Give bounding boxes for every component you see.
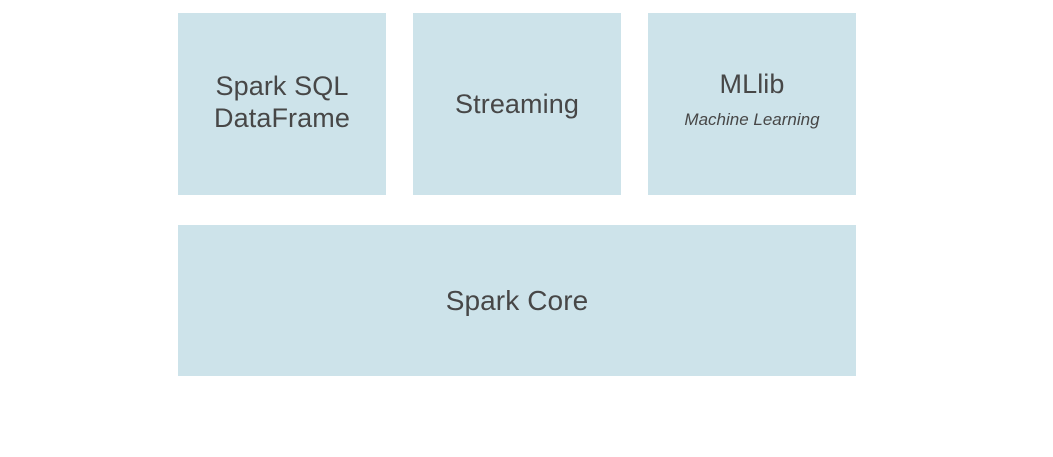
spark-core-title-line-1: Spark Core: [446, 284, 589, 317]
streaming-title: Streaming: [455, 89, 579, 121]
spark-sql-text-stack: Spark SQL DataFrame: [214, 71, 350, 135]
spark-core-title: Spark Core: [446, 284, 589, 317]
diagram-box-mllib[interactable]: MLlib Machine Learning: [648, 13, 856, 195]
spark-sql-title-line-1: Spark SQL: [214, 71, 350, 103]
mllib-title: MLlib: [684, 69, 819, 101]
spark-core-text-stack: Spark Core: [446, 284, 589, 317]
diagram-box-spark-core[interactable]: Spark Core: [178, 225, 856, 376]
mllib-subtitle: Machine Learning: [684, 110, 819, 129]
spark-sql-title-line-2: DataFrame: [214, 103, 350, 135]
spark-sql-title: Spark SQL DataFrame: [214, 71, 350, 135]
streaming-title-line-1: Streaming: [455, 89, 579, 121]
spark-stack-diagram: Spark SQL DataFrame Streaming MLlib Mach…: [0, 0, 1053, 457]
mllib-title-line-1: MLlib: [684, 69, 819, 101]
diagram-box-spark-sql[interactable]: Spark SQL DataFrame: [178, 13, 386, 195]
streaming-text-stack: Streaming: [455, 89, 579, 121]
mllib-text-stack: MLlib Machine Learning: [684, 69, 819, 133]
diagram-box-streaming[interactable]: Streaming: [413, 13, 621, 195]
